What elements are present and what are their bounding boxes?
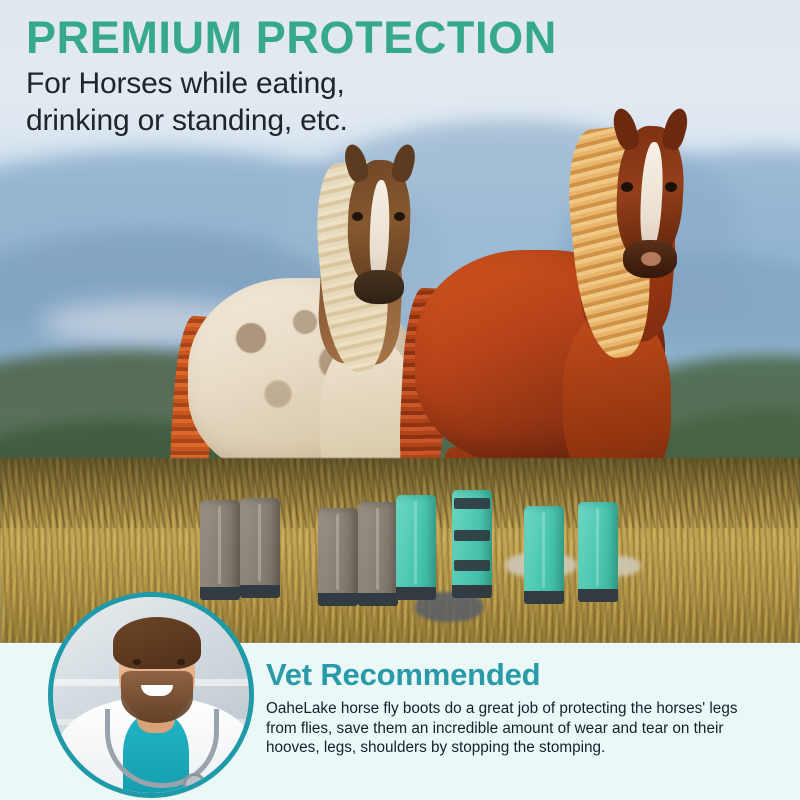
product-marketing-card: PREMIUM PROTECTION For Horses while eati… bbox=[0, 0, 800, 800]
boot-seam bbox=[258, 504, 261, 582]
fly-boot-grey bbox=[318, 508, 358, 606]
stethoscope-bell-icon bbox=[183, 773, 206, 796]
boot-seam bbox=[542, 512, 545, 588]
fly-boot-grey bbox=[240, 498, 280, 598]
vet-hair bbox=[113, 617, 201, 669]
horse-nostril bbox=[641, 252, 661, 266]
testimonial-title: Vet Recommended bbox=[266, 657, 540, 693]
vet-eye-left bbox=[133, 659, 141, 665]
fly-boot-turquoise bbox=[396, 495, 436, 600]
subheadline: For Horses while eating, drinking or sta… bbox=[26, 66, 348, 139]
boot-seam bbox=[218, 506, 221, 584]
horse-eye-left bbox=[352, 212, 363, 221]
boot-seam bbox=[414, 501, 417, 584]
fly-boot-grey bbox=[358, 502, 398, 606]
headline: PREMIUM PROTECTION bbox=[26, 14, 557, 62]
boot-strap bbox=[454, 498, 490, 509]
boot-strap bbox=[454, 530, 490, 541]
fly-boot-turquoise bbox=[452, 490, 492, 598]
vet-eye-right bbox=[177, 659, 185, 665]
boot-seam bbox=[596, 508, 599, 586]
horse-eye-right bbox=[394, 212, 405, 221]
horse-eye-left bbox=[621, 182, 633, 192]
horse-eye-right bbox=[665, 182, 677, 192]
fly-boot-turquoise bbox=[578, 502, 618, 602]
fly-boot-turquoise bbox=[524, 506, 564, 604]
horse-ear-right bbox=[660, 106, 692, 152]
boot-strap bbox=[454, 560, 490, 571]
horse-muzzle bbox=[354, 270, 404, 304]
boot-seam bbox=[376, 508, 379, 590]
boot-seam bbox=[336, 514, 339, 590]
fly-boot-grey bbox=[200, 500, 240, 600]
vet-avatar bbox=[48, 592, 254, 798]
testimonial-body: OaheLake horse fly boots do a great job … bbox=[266, 699, 766, 758]
